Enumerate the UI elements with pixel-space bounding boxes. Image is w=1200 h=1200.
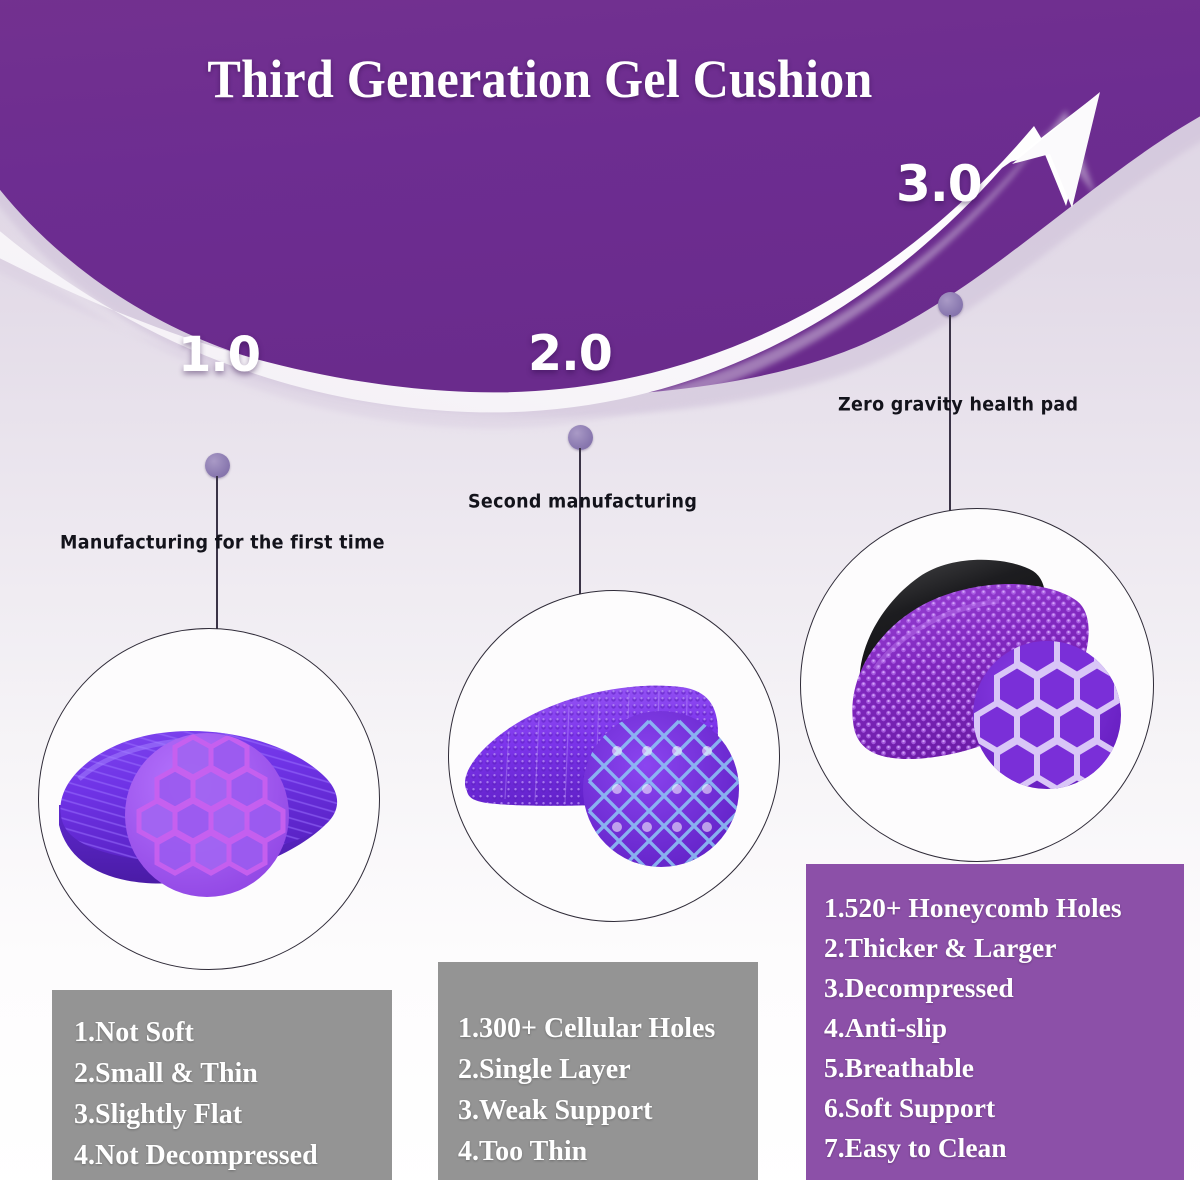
product-circle-2 — [448, 590, 780, 922]
product-circle-3 — [800, 508, 1154, 862]
pin-dot-icon — [205, 453, 230, 478]
gel-cushion-v1-photo — [39, 629, 379, 969]
list-item: 6.Soft Support — [824, 1088, 1184, 1128]
feature-list-2: 1.300+ Cellular Holes 2.Single Layer 3.W… — [458, 1008, 758, 1172]
list-item: 3.Decompressed — [824, 968, 1184, 1008]
feature-panel-2: 1.300+ Cellular Holes 2.Single Layer 3.W… — [438, 962, 758, 1180]
list-item: 2.Single Layer — [458, 1049, 758, 1090]
list-item: 3.Weak Support — [458, 1090, 758, 1131]
callout-label-1: Manufacturing for the first time — [60, 532, 385, 553]
callout-label-3: Zero gravity health pad — [838, 394, 1078, 415]
list-item: 2.Thicker & Larger — [824, 928, 1184, 968]
list-item: 5.Breathable — [824, 1048, 1184, 1088]
product-circle-1 — [38, 628, 380, 970]
feature-panel-3: 1.520+ Honeycomb Holes 2.Thicker & Large… — [806, 864, 1184, 1180]
list-item: 7.Easy to Clean — [824, 1128, 1184, 1168]
pin-dot-icon — [938, 292, 963, 317]
callout-label-2: Second manufacturing — [468, 491, 697, 512]
version-label-3: 3.0 — [896, 155, 982, 213]
feature-list-1: 1.Not Soft 2.Small & Thin 3.Slightly Fla… — [74, 1012, 392, 1176]
feature-list-3: 1.520+ Honeycomb Holes 2.Thicker & Large… — [824, 888, 1184, 1168]
list-item: 4.Anti-slip — [824, 1008, 1184, 1048]
list-item: 1.520+ Honeycomb Holes — [824, 888, 1184, 928]
gel-cushion-v2-photo — [449, 591, 779, 921]
gel-cushion-v3-photo — [801, 509, 1153, 861]
list-item: 4.Not Decompressed — [74, 1135, 392, 1176]
list-item: 2.Small & Thin — [74, 1053, 392, 1094]
infographic-root: Third Generation Gel Cushion 1.0 2.0 3.0… — [0, 0, 1200, 1200]
version-label-1: 1.0 — [178, 327, 260, 383]
version-label-2: 2.0 — [528, 325, 612, 382]
list-item: 3.Slightly Flat — [74, 1094, 392, 1135]
feature-panel-1: 1.Not Soft 2.Small & Thin 3.Slightly Fla… — [52, 990, 392, 1180]
list-item: 1.Not Soft — [74, 1012, 392, 1053]
pin-dot-icon — [568, 425, 593, 450]
page-title: Third Generation Gel Cushion — [38, 48, 1042, 110]
list-item: 4.Too Thin — [458, 1131, 758, 1172]
list-item: 1.300+ Cellular Holes — [458, 1008, 758, 1049]
